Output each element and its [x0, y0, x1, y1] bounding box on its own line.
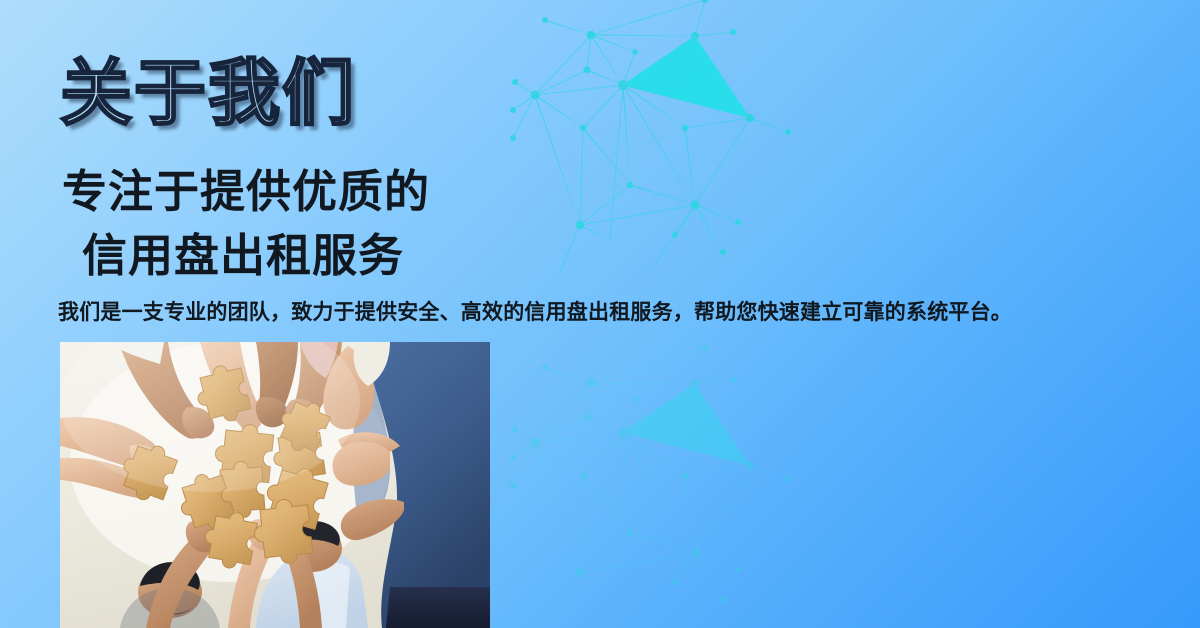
subtitle: 专注于提供优质的 信用盘出租服务: [62, 160, 430, 288]
network-constellation-graphic-bottom: [505, 330, 845, 628]
network-constellation-graphic-top: [505, 0, 845, 275]
about-us-banner: 关于我们 专注于提供优质的 信用盘出租服务 我们是一支专业的团队，致力于提供安全…: [0, 0, 1200, 628]
subtitle-line-2: 信用盘出租服务: [62, 224, 430, 288]
body-paragraph: 我们是一支专业的团队，致力于提供安全、高效的信用盘出租服务，帮助您快速建立可靠的…: [58, 296, 1158, 326]
page-title: 关于我们: [60, 58, 356, 130]
subtitle-line-1: 专注于提供优质的: [62, 166, 430, 217]
teamwork-hands-puzzle-photo: [60, 342, 490, 628]
